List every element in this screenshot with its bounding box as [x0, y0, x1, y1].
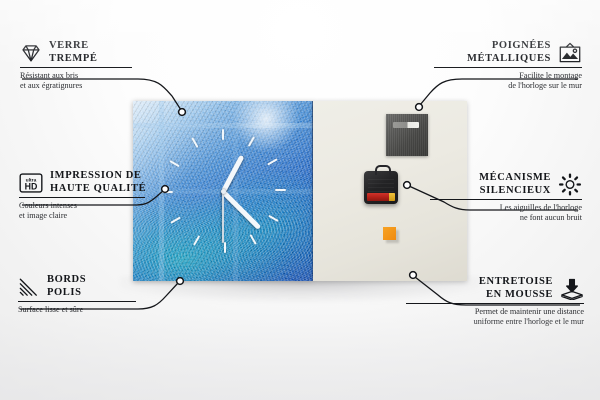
- feature-header: BORDS POLIS: [18, 274, 143, 299]
- polished-edge-icon: [18, 277, 40, 297]
- foam-spacer-icon: [560, 278, 584, 300]
- battery: [367, 193, 395, 201]
- clock-front-face: [133, 101, 313, 281]
- feature-title: ENTRETOISE EN MOUSSE: [479, 276, 553, 301]
- feature-rule: [19, 197, 145, 198]
- feature-bords-polis[interactable]: BORDS POLIS Surface lisse et sûre: [18, 274, 143, 315]
- feature-rule: [430, 199, 582, 200]
- product-image: [133, 101, 467, 281]
- metal-grain: [386, 114, 428, 156]
- feature-title: POIGNÉES MÉTALLIQUES: [467, 40, 551, 65]
- feature-rule: [20, 67, 132, 68]
- hanger-slot: [393, 122, 419, 128]
- feature-subtitle: Permet de maintenir une distance uniform…: [406, 307, 584, 328]
- feature-subtitle: Facilite le montage de l'horloge sur le …: [434, 71, 582, 92]
- foam-spacer: [383, 227, 396, 240]
- feature-header: ultra HD IMPRESSION DE HAUTE QUALITÉ: [19, 170, 157, 195]
- feature-entretoise-en-mousse[interactable]: ENTRETOISE EN MOUSSE Permet de maintenir…: [406, 276, 584, 327]
- infographic-canvas: VERRE TREMPÉ Résistant aux bris et aux é…: [0, 0, 600, 400]
- feature-subtitle: Les aiguilles de l'horloge ne font aucun…: [430, 203, 582, 224]
- feature-impression-haute-qualite[interactable]: ultra HD IMPRESSION DE HAUTE QUALITÉ Cou…: [19, 170, 157, 221]
- feature-subtitle: Résistant aux bris et aux égratignures: [20, 71, 145, 92]
- movement-hanging-loop: [375, 165, 391, 175]
- feature-header: VERRE TREMPÉ: [20, 40, 145, 65]
- feature-header: ENTRETOISE EN MOUSSE: [406, 276, 584, 301]
- clock-center-cap: [221, 189, 226, 194]
- feature-rule: [434, 67, 582, 68]
- feature-title: IMPRESSION DE HAUTE QUALITÉ: [50, 170, 146, 195]
- quartz-movement: [364, 171, 398, 204]
- movement-texture: [368, 176, 394, 192]
- ultra-hd-icon: ultra HD: [19, 172, 43, 194]
- metal-hanger-plate: [386, 114, 428, 156]
- feature-rule: [406, 303, 584, 304]
- feature-title: MÉCANISME SILENCIEUX: [479, 172, 551, 197]
- feature-subtitle: Couleurs intenses et image claire: [19, 201, 157, 222]
- feature-poignees-metalliques[interactable]: POIGNÉES MÉTALLIQUES Facilite le montage…: [434, 40, 582, 91]
- feature-header: POIGNÉES MÉTALLIQUES: [434, 40, 582, 65]
- feature-title: BORDS POLIS: [47, 274, 86, 299]
- svg-text:HD: HD: [25, 181, 38, 191]
- feature-title: VERRE TREMPÉ: [49, 40, 98, 65]
- feature-verre-trempe[interactable]: VERRE TREMPÉ Résistant aux bris et aux é…: [20, 40, 145, 91]
- feature-mecanisme-silencieux[interactable]: MÉCANISME SILENCIEUX Les aiguilles de l'…: [430, 172, 582, 223]
- gear-icon: [558, 173, 582, 196]
- feature-rule: [18, 301, 136, 302]
- picture-hanger-icon: [558, 42, 582, 64]
- feature-subtitle: Surface lisse et sûre: [18, 305, 143, 315]
- diamond-icon: [20, 43, 42, 63]
- feature-header: MÉCANISME SILENCIEUX: [430, 172, 582, 197]
